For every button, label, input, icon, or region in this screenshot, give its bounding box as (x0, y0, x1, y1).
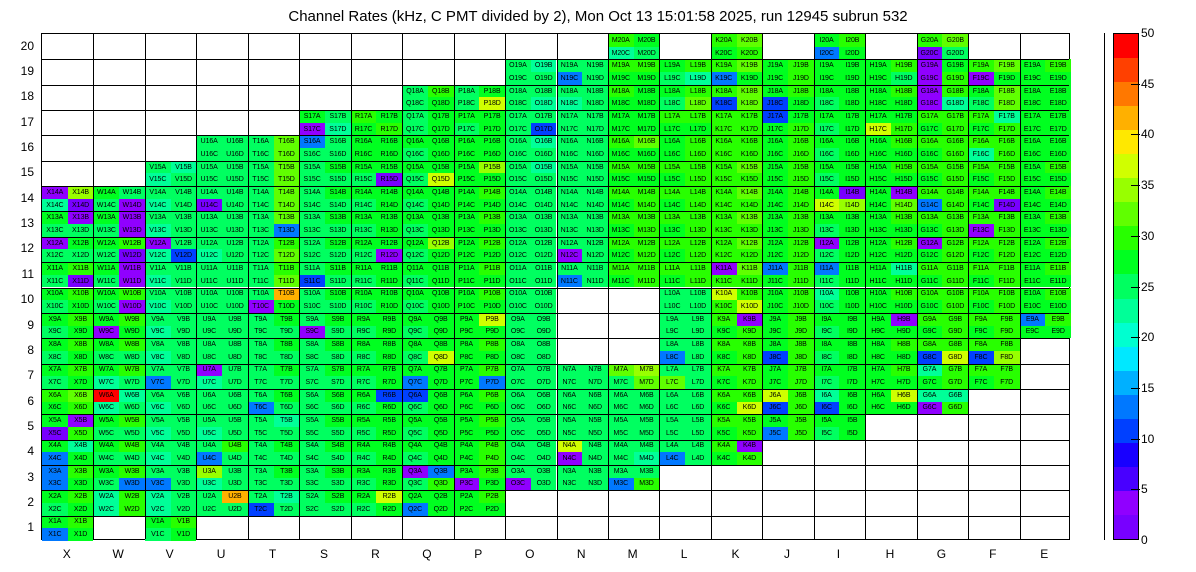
channel-q12b[interactable]: Q12B (428, 237, 454, 250)
channel-v4a[interactable]: V4A (145, 440, 171, 453)
channel-o4d[interactable]: O4D (531, 452, 557, 465)
heatmap-cell[interactable]: U6AU6BU6CU6D (196, 389, 247, 414)
channel-l4d[interactable]: L4D (685, 452, 711, 465)
channel-u11c[interactable]: U11C (196, 275, 222, 288)
channel-i6c[interactable]: I6C (814, 402, 840, 415)
channel-p13b[interactable]: P13B (479, 211, 505, 224)
channel-f14d[interactable]: F14D (994, 199, 1020, 212)
channel-r4c[interactable]: R4C (351, 452, 377, 465)
heatmap-cell[interactable] (402, 516, 453, 541)
channel-o7b[interactable]: O7B (531, 364, 557, 377)
channel-k5b[interactable]: K5B (737, 414, 763, 427)
channel-v4b[interactable]: V4B (171, 440, 197, 453)
channel-t5a[interactable]: T5A (248, 414, 274, 427)
channel-s2c[interactable]: S2C (299, 503, 325, 516)
channel-v5b[interactable]: V5B (171, 414, 197, 427)
channel-f11d[interactable]: F11D (994, 275, 1020, 288)
channel-g17b[interactable]: G17B (942, 110, 968, 123)
channel-g7a[interactable]: G7A (917, 364, 943, 377)
channel-o17b[interactable]: O17B (531, 110, 557, 123)
channel-l10c[interactable]: L10C (659, 300, 685, 313)
channel-o4b[interactable]: O4B (531, 440, 557, 453)
channel-p14d[interactable]: P14D (479, 199, 505, 212)
heatmap-cell[interactable] (1020, 440, 1071, 465)
channel-e19d[interactable]: E19D (1045, 72, 1071, 85)
channel-j18d[interactable]: J18D (788, 97, 814, 110)
channel-v10c[interactable]: V10C (145, 300, 171, 313)
heatmap-cell[interactable]: K14AK14BK14CK14D (711, 186, 762, 211)
channel-h13d[interactable]: H13D (891, 224, 917, 237)
channel-s16c[interactable]: S16C (299, 148, 325, 161)
channel-k8a[interactable]: K8A (711, 338, 737, 351)
channel-t8b[interactable]: T8B (274, 338, 300, 351)
channel-n19b[interactable]: N19B (582, 59, 608, 72)
heatmap-cell[interactable] (145, 110, 196, 135)
channel-s4b[interactable]: S4B (325, 440, 351, 453)
channel-e9a[interactable]: E9A (1020, 313, 1046, 326)
heatmap-cell[interactable]: N13AN13BN13CN13D (557, 211, 608, 236)
heatmap-cell[interactable]: R11AR11BR11CR11D (351, 262, 402, 287)
channel-f14c[interactable]: F14C (968, 199, 994, 212)
channel-m7d[interactable]: M7D (634, 376, 660, 389)
channel-w7c[interactable]: W7C (93, 376, 119, 389)
channel-l16d[interactable]: L16D (685, 148, 711, 161)
channel-h7a[interactable]: H7A (865, 364, 891, 377)
heatmap-cell[interactable] (917, 440, 968, 465)
channel-u3a[interactable]: U3A (196, 465, 222, 478)
channel-m11c[interactable]: M11C (608, 275, 634, 288)
heatmap-cell[interactable]: K17AK17BK17CK17D (711, 110, 762, 135)
heatmap-cell[interactable]: R17AR17BR17CR17D (351, 110, 402, 135)
heatmap-cell[interactable] (42, 110, 93, 135)
heatmap-cell[interactable] (917, 414, 968, 439)
channel-g7c[interactable]: G7C (917, 376, 943, 389)
channel-o19a[interactable]: O19A (505, 59, 531, 72)
heatmap-cell[interactable]: X14AX14BX14CX14D (42, 186, 93, 211)
channel-s11d[interactable]: S11D (325, 275, 351, 288)
channel-s14a[interactable]: S14A (299, 186, 325, 199)
channel-k9c[interactable]: K9C (711, 326, 737, 339)
channel-m6a[interactable]: M6A (608, 389, 634, 402)
channel-g19c[interactable]: G19C (917, 72, 943, 85)
heatmap-cell[interactable]: N12AN12BN12CN12D (557, 237, 608, 262)
channel-o13a[interactable]: O13A (505, 211, 531, 224)
heatmap-cell[interactable]: J14AJ14BJ14CJ14D (762, 186, 813, 211)
channel-j16d[interactable]: J16D (788, 148, 814, 161)
channel-p15d[interactable]: P15D (479, 173, 505, 186)
channel-o18a[interactable]: O18A (505, 85, 531, 98)
channel-i16c[interactable]: I16C (814, 148, 840, 161)
channel-l13b[interactable]: L13B (685, 211, 711, 224)
channel-v14b[interactable]: V14B (171, 186, 197, 199)
channel-g11a[interactable]: G11A (917, 262, 943, 275)
channel-j8a[interactable]: J8A (762, 338, 788, 351)
heatmap-cell[interactable] (1020, 364, 1071, 389)
channel-x5d[interactable]: X5D (68, 427, 94, 440)
channel-p4b[interactable]: P4B (479, 440, 505, 453)
channel-x2d[interactable]: X2D (68, 503, 94, 516)
heatmap-cell[interactable]: T7AT7BT7CT7D (248, 364, 299, 389)
channel-l15c[interactable]: L15C (659, 173, 685, 186)
channel-n12b[interactable]: N12B (582, 237, 608, 250)
channel-r6b[interactable]: R6B (376, 389, 402, 402)
channel-v2d[interactable]: V2D (171, 503, 197, 516)
heatmap-cell[interactable]: T15AT15BT15CT15D (248, 161, 299, 186)
heatmap-cell[interactable]: H15AH15BH15CH15D (865, 161, 916, 186)
channel-s7d[interactable]: S7D (325, 376, 351, 389)
heatmap-cell[interactable]: I15AI15BI15CI15D (814, 161, 865, 186)
heatmap-cell[interactable]: E11AE11BE11CE11D (1020, 262, 1071, 287)
heatmap-cell[interactable]: Q5AQ5BQ5CQ5D (402, 414, 453, 439)
channel-l6d[interactable]: L6D (685, 402, 711, 415)
channel-s12a[interactable]: S12A (299, 237, 325, 250)
channel-u4d[interactable]: U4D (222, 452, 248, 465)
channel-j5a[interactable]: J5A (762, 414, 788, 427)
heatmap-cell[interactable]: G14AG14BG14CG14D (917, 186, 968, 211)
channel-p4a[interactable]: P4A (454, 440, 480, 453)
channel-g14a[interactable]: G14A (917, 186, 943, 199)
heatmap-cell[interactable]: M19AM19BM19CM19D (608, 59, 659, 84)
heatmap-cell[interactable]: P4AP4BP4CP4D (454, 440, 505, 465)
channel-p13c[interactable]: P13C (454, 224, 480, 237)
heatmap-cell[interactable]: L4AL4BL4CL4D (659, 440, 710, 465)
heatmap-cell[interactable]: H19AH19BH19CH19D (865, 59, 916, 84)
channel-v5a[interactable]: V5A (145, 414, 171, 427)
channel-p7a[interactable]: P7A (454, 364, 480, 377)
channel-h10d[interactable]: H10D (891, 300, 917, 313)
channel-j8c[interactable]: J8C (762, 351, 788, 364)
channel-f12b[interactable]: F12B (994, 237, 1020, 250)
channel-l12c[interactable]: L12C (659, 249, 685, 262)
heatmap-cell[interactable]: K10AK10BK10CK10D (711, 288, 762, 313)
channel-n18d[interactable]: N18D (582, 97, 608, 110)
channel-f18b[interactable]: F18B (994, 85, 1020, 98)
channel-q5d[interactable]: Q5D (428, 427, 454, 440)
channel-l4a[interactable]: L4A (659, 440, 685, 453)
channel-n6b[interactable]: N6B (582, 389, 608, 402)
channel-p5b[interactable]: P5B (479, 414, 505, 427)
heatmap-cell[interactable]: I14AI14BI14CI14D (814, 186, 865, 211)
channel-t15c[interactable]: T15C (248, 173, 274, 186)
heatmap-cell[interactable]: S13AS13BS13CS13D (299, 211, 350, 236)
channel-p12d[interactable]: P12D (479, 249, 505, 262)
channel-t8a[interactable]: T8A (248, 338, 274, 351)
channel-m20b[interactable]: M20B (634, 34, 660, 47)
channel-q4d[interactable]: Q4D (428, 452, 454, 465)
channel-v1a[interactable]: V1A (145, 516, 171, 529)
heatmap-cell[interactable]: T12AT12BT12CT12D (248, 237, 299, 262)
channel-m20a[interactable]: M20A (608, 34, 634, 47)
channel-n4c[interactable]: N4C (557, 452, 583, 465)
channel-w3a[interactable]: W3A (93, 465, 119, 478)
channel-u4b[interactable]: U4B (222, 440, 248, 453)
channel-r17d[interactable]: R17D (376, 123, 402, 136)
heatmap-cell[interactable] (865, 414, 916, 439)
channel-u5b[interactable]: U5B (222, 414, 248, 427)
heatmap-cell[interactable]: W9AW9BW9CW9D (93, 313, 144, 338)
channel-u6a[interactable]: U6A (196, 389, 222, 402)
heatmap-cell[interactable]: T5AT5BT5CT5D (248, 414, 299, 439)
heatmap-cell[interactable] (814, 465, 865, 490)
channel-x1a[interactable]: X1A (42, 516, 68, 529)
channel-l11c[interactable]: L11C (659, 275, 685, 288)
heatmap-cell[interactable] (299, 85, 350, 110)
heatmap-cell[interactable] (196, 110, 247, 135)
channel-i12b[interactable]: I12B (839, 237, 865, 250)
heatmap-cell[interactable]: E16AE16BE16CE16D (1020, 135, 1071, 160)
channel-u4a[interactable]: U4A (196, 440, 222, 453)
heatmap-cell[interactable] (968, 516, 1019, 541)
channel-m14a[interactable]: M14A (608, 186, 634, 199)
channel-l13a[interactable]: L13A (659, 211, 685, 224)
heatmap-cell[interactable] (42, 161, 93, 186)
heatmap-cell[interactable]: J11AJ11BJ11CJ11D (762, 262, 813, 287)
channel-e16c[interactable]: E16C (1020, 148, 1046, 161)
channel-n4a[interactable]: N4A (557, 440, 583, 453)
channel-e18a[interactable]: E18A (1020, 85, 1046, 98)
channel-p11b[interactable]: P11B (479, 262, 505, 275)
channel-k4b[interactable]: K4B (737, 440, 763, 453)
channel-o5a[interactable]: O5A (505, 414, 531, 427)
channel-p8d[interactable]: P8D (479, 351, 505, 364)
channel-m7a[interactable]: M7A (608, 364, 634, 377)
channel-r4a[interactable]: R4A (351, 440, 377, 453)
heatmap-cell[interactable]: I12AI12BI12CI12D (814, 237, 865, 262)
channel-x1b[interactable]: X1B (68, 516, 94, 529)
heatmap-cell[interactable]: O5AO5BO5CO5D (505, 414, 556, 439)
channel-e14d[interactable]: E14D (1045, 199, 1071, 212)
heatmap-cell[interactable]: R7AR7BR7CR7D (351, 364, 402, 389)
channel-m14b[interactable]: M14B (634, 186, 660, 199)
channel-x10a[interactable]: X10A (42, 288, 68, 301)
channel-u16a[interactable]: U16A (196, 135, 222, 148)
channel-l7c[interactable]: L7C (659, 376, 685, 389)
channel-e18d[interactable]: E18D (1045, 97, 1071, 110)
heatmap-cell[interactable]: E19AE19BE19CE19D (1020, 59, 1071, 84)
channel-v12c[interactable]: V12C (145, 249, 171, 262)
heatmap-cell[interactable]: W10AW10BW10CW10D (93, 288, 144, 313)
channel-p11c[interactable]: P11C (454, 275, 480, 288)
heatmap-cell[interactable]: P2AP2BP2CP2D (454, 490, 505, 515)
channel-i19d[interactable]: I19D (839, 72, 865, 85)
heatmap-cell[interactable]: M20AM20BM20CM20D (608, 34, 659, 59)
channel-e17c[interactable]: E17C (1020, 123, 1046, 136)
channel-m16c[interactable]: M16C (608, 148, 634, 161)
channel-n5d[interactable]: N5D (582, 427, 608, 440)
channel-m16d[interactable]: M16D (634, 148, 660, 161)
channel-w6a[interactable]: W6A (93, 389, 119, 402)
heatmap-cell[interactable] (865, 440, 916, 465)
heatmap-cell[interactable]: N11AN11BN11CN11D (557, 262, 608, 287)
channel-q3d[interactable]: Q3D (428, 478, 454, 491)
channel-q11a[interactable]: Q11A (402, 262, 428, 275)
channel-h12c[interactable]: H12C (865, 249, 891, 262)
channel-n18c[interactable]: N18C (557, 97, 583, 110)
channel-k6b[interactable]: K6B (737, 389, 763, 402)
heatmap-cell[interactable] (711, 465, 762, 490)
channel-w13d[interactable]: W13D (119, 224, 145, 237)
channel-v7d[interactable]: V7D (171, 376, 197, 389)
channel-t5d[interactable]: T5D (274, 427, 300, 440)
channel-h15a[interactable]: H15A (865, 161, 891, 174)
channel-w8c[interactable]: W8C (93, 351, 119, 364)
channel-u14b[interactable]: U14B (222, 186, 248, 199)
channel-r14d[interactable]: R14D (376, 199, 402, 212)
channel-n6c[interactable]: N6C (557, 402, 583, 415)
channel-i13d[interactable]: I13D (839, 224, 865, 237)
channel-f15c[interactable]: F15C (968, 173, 994, 186)
channel-j18c[interactable]: J18C (762, 97, 788, 110)
heatmap-cell[interactable]: P7AP7BP7CP7D (454, 364, 505, 389)
channel-k6c[interactable]: K6C (711, 402, 737, 415)
channel-v10d[interactable]: V10D (171, 300, 197, 313)
channel-e12b[interactable]: E12B (1045, 237, 1071, 250)
channel-j17b[interactable]: J17B (788, 110, 814, 123)
channel-p6a[interactable]: P6A (454, 389, 480, 402)
heatmap-cell[interactable]: Q8AQ8BQ8CQ8D (402, 338, 453, 363)
heatmap-cell[interactable]: U16AU16BU16CU16D (196, 135, 247, 160)
channel-k19d[interactable]: K19D (737, 72, 763, 85)
channel-j19b[interactable]: J19B (788, 59, 814, 72)
channel-q8d[interactable]: Q8D (428, 351, 454, 364)
channel-m19a[interactable]: M19A (608, 59, 634, 72)
heatmap-cell[interactable] (299, 516, 350, 541)
channel-u8b[interactable]: U8B (222, 338, 248, 351)
channel-n14d[interactable]: N14D (582, 199, 608, 212)
heatmap-cell[interactable] (814, 440, 865, 465)
channel-p15c[interactable]: P15C (454, 173, 480, 186)
heatmap-cell[interactable]: T6AT6BT6CT6D (248, 389, 299, 414)
channel-f14b[interactable]: F14B (994, 186, 1020, 199)
channel-v9c[interactable]: V9C (145, 326, 171, 339)
heatmap-cell[interactable] (248, 85, 299, 110)
heatmap-cell[interactable]: R3AR3BR3CR3D (351, 465, 402, 490)
channel-f10d[interactable]: F10D (994, 300, 1020, 313)
heatmap-cell[interactable] (299, 59, 350, 84)
channel-o17a[interactable]: O17A (505, 110, 531, 123)
channel-i7b[interactable]: I7B (839, 364, 865, 377)
heatmap-cell[interactable]: S14AS14BS14CS14D (299, 186, 350, 211)
channel-r11c[interactable]: R11C (351, 275, 377, 288)
channel-r12a[interactable]: R12A (351, 237, 377, 250)
channel-s15d[interactable]: S15D (325, 173, 351, 186)
heatmap-cell[interactable]: X1AX1BX1CX1D (42, 516, 93, 541)
channel-q3b[interactable]: Q3B (428, 465, 454, 478)
heatmap-cell[interactable] (351, 85, 402, 110)
heatmap-cell[interactable] (865, 34, 916, 59)
channel-l5d[interactable]: L5D (685, 427, 711, 440)
channel-k11a[interactable]: K11A (711, 262, 737, 275)
channel-i17b[interactable]: I17B (839, 110, 865, 123)
heatmap-cell[interactable]: E13AE13BE13CE13D (1020, 211, 1071, 236)
channel-o8a[interactable]: O8A (505, 338, 531, 351)
channel-s2a[interactable]: S2A (299, 490, 325, 503)
channel-r8c[interactable]: R8C (351, 351, 377, 364)
channel-s3c[interactable]: S3C (299, 478, 325, 491)
channel-m11a[interactable]: M11A (608, 262, 634, 275)
heatmap-cell[interactable]: S15AS15BS15CS15D (299, 161, 350, 186)
channel-v15c[interactable]: V15C (145, 173, 171, 186)
channel-u6b[interactable]: U6B (222, 389, 248, 402)
channel-p14b[interactable]: P14B (479, 186, 505, 199)
channel-q14d[interactable]: Q14D (428, 199, 454, 212)
heatmap-cell[interactable]: P16AP16BP16CP16D (454, 135, 505, 160)
channel-w2a[interactable]: W2A (93, 490, 119, 503)
channel-k18b[interactable]: K18B (737, 85, 763, 98)
channel-k19b[interactable]: K19B (737, 59, 763, 72)
heatmap-cell[interactable]: M11AM11BM11CM11D (608, 262, 659, 287)
heatmap-cell[interactable]: M12AM12BM12CM12D (608, 237, 659, 262)
channel-r7d[interactable]: R7D (376, 376, 402, 389)
heatmap-cell[interactable]: M6AM6BM6CM6D (608, 389, 659, 414)
channel-t10c[interactable]: T10C (248, 300, 274, 313)
channel-k17b[interactable]: K17B (737, 110, 763, 123)
channel-q9c[interactable]: Q9C (402, 326, 428, 339)
channel-v7a[interactable]: V7A (145, 364, 171, 377)
channel-l8d[interactable]: L8D (685, 351, 711, 364)
channel-r13d[interactable]: R13D (376, 224, 402, 237)
heatmap-cell[interactable] (1020, 516, 1071, 541)
channel-k16c[interactable]: K16C (711, 148, 737, 161)
channel-i11d[interactable]: I11D (839, 275, 865, 288)
heatmap-cell[interactable]: R2AR2BR2CR2D (351, 490, 402, 515)
channel-h10a[interactable]: H10A (865, 288, 891, 301)
channel-r13c[interactable]: R13C (351, 224, 377, 237)
heatmap-cell[interactable]: F15AF15BF15CF15D (968, 161, 1019, 186)
heatmap-cell[interactable] (248, 110, 299, 135)
channel-t8d[interactable]: T8D (274, 351, 300, 364)
channel-e15a[interactable]: E15A (1020, 161, 1046, 174)
heatmap-cell[interactable]: O15AO15BO15CO15D (505, 161, 556, 186)
channel-k11c[interactable]: K11C (711, 275, 737, 288)
channel-j18b[interactable]: J18B (788, 85, 814, 98)
channel-g19b[interactable]: G19B (942, 59, 968, 72)
heatmap-cell[interactable]: T13AT13BT13CT13D (248, 211, 299, 236)
heatmap-cell[interactable]: E12AE12BE12CE12D (1020, 237, 1071, 262)
heatmap-cell[interactable]: G7AG7BG7CG7D (917, 364, 968, 389)
channel-v1c[interactable]: V1C (145, 528, 171, 541)
heatmap-cell[interactable]: H11AH11BH11CH11D (865, 262, 916, 287)
channel-x12c[interactable]: X12C (42, 249, 68, 262)
channel-g17c[interactable]: G17C (917, 123, 943, 136)
heatmap-cell[interactable]: V12AV12BV12CV12D (145, 237, 196, 262)
channel-v14a[interactable]: V14A (145, 186, 171, 199)
channel-h19c[interactable]: H19C (865, 72, 891, 85)
heatmap-cell[interactable] (93, 85, 144, 110)
channel-h14c[interactable]: H14C (865, 199, 891, 212)
heatmap-cell[interactable]: X7AX7BX7CX7D (42, 364, 93, 389)
channel-s9d[interactable]: S9D (325, 326, 351, 339)
channel-s3a[interactable]: S3A (299, 465, 325, 478)
channel-q12a[interactable]: Q12A (402, 237, 428, 250)
heatmap-cell[interactable]: P5AP5BP5CP5D (454, 414, 505, 439)
heatmap-cell[interactable]: F19AF19BF19CF19D (968, 59, 1019, 84)
channel-r14a[interactable]: R14A (351, 186, 377, 199)
channel-x12a[interactable]: X12A (42, 237, 68, 250)
channel-o11d[interactable]: O11D (531, 275, 557, 288)
channel-i10c[interactable]: I10C (814, 300, 840, 313)
heatmap-cell[interactable]: S16AS16BS16CS16D (299, 135, 350, 160)
channel-o16b[interactable]: O16B (531, 135, 557, 148)
heatmap-cell[interactable]: K4AK4BK4CK4D (711, 440, 762, 465)
channel-u15c[interactable]: U15C (196, 173, 222, 186)
channel-u8a[interactable]: U8A (196, 338, 222, 351)
heatmap-cell[interactable]: O3AO3BO3CO3D (505, 465, 556, 490)
channel-x8a[interactable]: X8A (42, 338, 68, 351)
channel-r9b[interactable]: R9B (376, 313, 402, 326)
channel-g18d[interactable]: G18D (942, 97, 968, 110)
channel-x9b[interactable]: X9B (68, 313, 94, 326)
